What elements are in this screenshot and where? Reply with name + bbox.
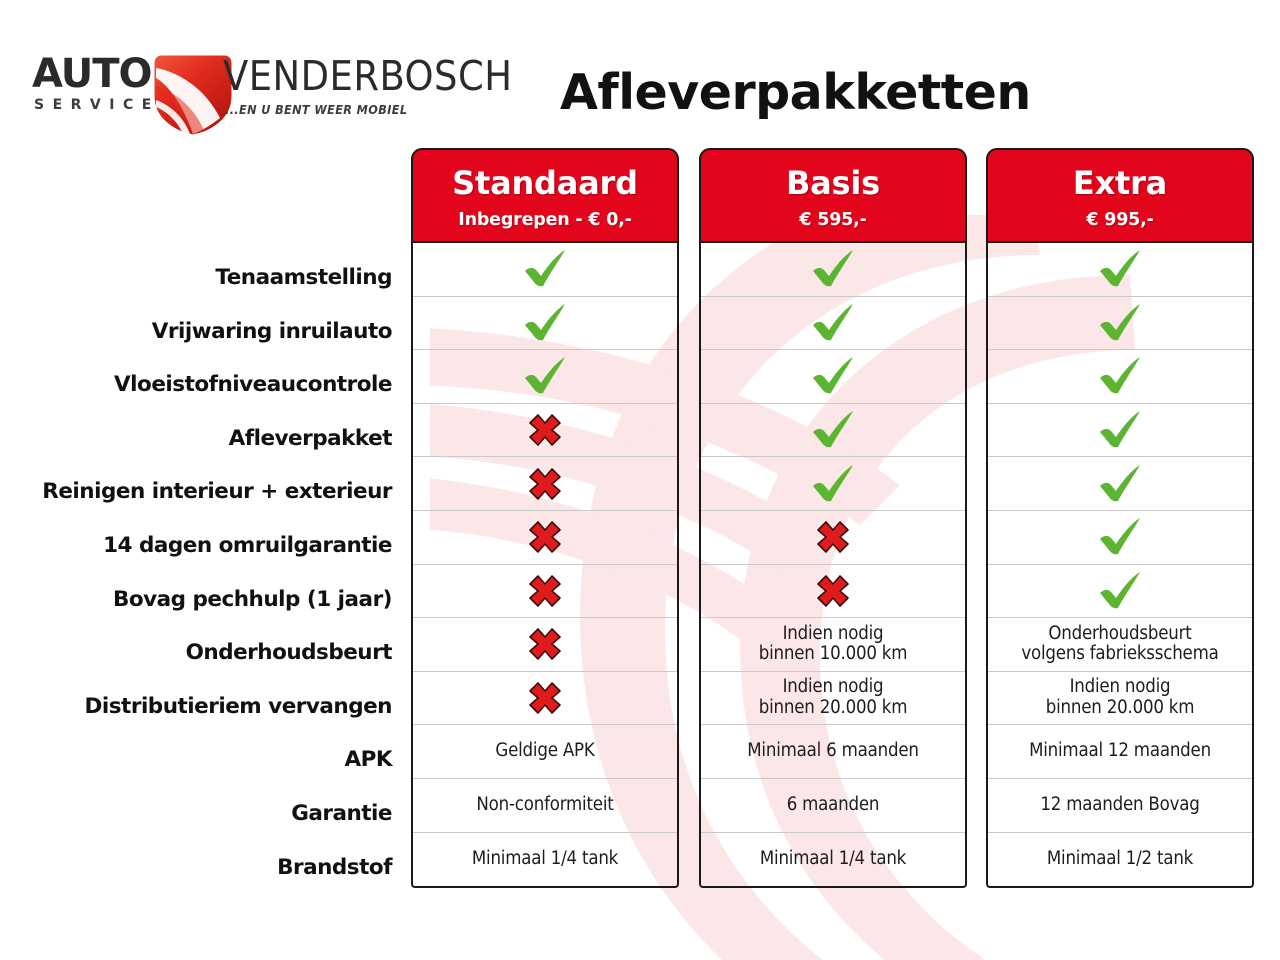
feature-cell: [701, 404, 965, 458]
package-price: € 595,-: [701, 199, 965, 230]
row-label: Bovag pechhulp (1 jaar): [0, 573, 396, 627]
cross-icon: [528, 574, 562, 608]
feature-cell: Minimaal 6 maanden: [701, 725, 965, 779]
check-icon: [810, 464, 856, 504]
feature-cell: [701, 243, 965, 297]
feature-cell: [988, 243, 1252, 297]
package-name: Standaard: [413, 150, 677, 199]
package-header: Extra€ 995,-: [986, 148, 1254, 243]
check-icon: [1097, 517, 1143, 557]
check-icon: [1097, 571, 1143, 611]
feature-cell: Non-conformiteit: [413, 779, 677, 833]
check-icon: [1097, 249, 1143, 289]
feature-cell: Onderhoudsbeurt volgens fabrieksschema: [988, 618, 1252, 672]
feature-cell: [988, 404, 1252, 458]
feature-cell: Minimaal 1/4 tank: [701, 833, 965, 887]
feature-cell: [988, 297, 1252, 351]
feature-cell: [701, 565, 965, 619]
check-icon: [1097, 356, 1143, 396]
feature-cell: [413, 565, 677, 619]
feature-cell-text: Indien nodig binnen 20.000 km: [1042, 677, 1199, 719]
feature-cell-text: Non-conformiteit: [472, 795, 617, 816]
check-icon: [810, 356, 856, 396]
check-icon: [1097, 464, 1143, 504]
package-feature-list: Geldige APKNon-conformiteitMinimaal 1/4 …: [411, 243, 679, 888]
feature-cell: [988, 565, 1252, 619]
feature-cell-text: Minimaal 1/4 tank: [468, 849, 622, 870]
package-feature-list: Onderhoudsbeurt volgens fabrieksschemaIn…: [986, 243, 1254, 888]
logo-service-text: SERVICE: [34, 98, 160, 112]
feature-cell-text: 12 maanden Bovag: [1036, 795, 1203, 816]
feature-cell-text: Indien nodig binnen 10.000 km: [755, 624, 912, 666]
page-title: Afleverpakketten: [560, 58, 1160, 128]
feature-cell: 6 maanden: [701, 779, 965, 833]
feature-cell: Minimaal 1/4 tank: [413, 833, 677, 887]
feature-cell: Indien nodig binnen 20.000 km: [988, 672, 1252, 726]
row-label: Afleverpakket: [0, 412, 396, 466]
comparison-poster: AUTO SERVICE VENDERBOSCH ...EN U BENT WE…: [0, 0, 1280, 960]
feature-cell: [413, 672, 677, 726]
feature-cell: Indien nodig binnen 20.000 km: [701, 672, 965, 726]
check-icon: [522, 249, 568, 289]
row-label: Brandstof: [0, 841, 396, 895]
check-icon: [810, 249, 856, 289]
package-price: Inbegrepen - € 0,-: [413, 199, 677, 230]
package-column-standaard[interactable]: StandaardInbegrepen - € 0,-Geldige APKNo…: [411, 148, 679, 888]
row-label-column: TenaamstellingVrijwaring inruilautoVloei…: [0, 251, 396, 894]
row-label: 14 dagen omruilgarantie: [0, 519, 396, 573]
feature-cell: Geldige APK: [413, 725, 677, 779]
row-label: APK: [0, 733, 396, 787]
cross-icon: [528, 413, 562, 447]
cross-icon: [528, 520, 562, 554]
cross-icon: [528, 467, 562, 501]
package-header: StandaardInbegrepen - € 0,-: [411, 148, 679, 243]
feature-cell: [701, 457, 965, 511]
package-name: Extra: [988, 150, 1252, 199]
logo-auto-text: AUTO: [32, 54, 152, 94]
feature-cell-text: Minimaal 1/4 tank: [756, 849, 910, 870]
package-price: € 995,-: [988, 199, 1252, 230]
feature-cell: 12 maanden Bovag: [988, 779, 1252, 833]
row-label: Reinigen interieur + exterieur: [0, 465, 396, 519]
feature-cell-text: Indien nodig binnen 20.000 km: [755, 677, 912, 719]
feature-cell: Minimaal 1/2 tank: [988, 833, 1252, 887]
feature-cell-text: Minimaal 1/2 tank: [1043, 849, 1197, 870]
feature-cell: [413, 243, 677, 297]
package-header: Basis€ 595,-: [699, 148, 967, 243]
logo-venderbosch-text: VENDERBOSCH: [223, 56, 513, 97]
check-icon: [810, 303, 856, 343]
feature-cell: [988, 511, 1252, 565]
feature-cell: [701, 297, 965, 351]
row-label: Distributieriem vervangen: [0, 680, 396, 734]
row-label: Vrijwaring inruilauto: [0, 305, 396, 359]
feature-cell: [413, 404, 677, 458]
row-label: Vloeistofniveaucontrole: [0, 358, 396, 412]
feature-cell: [701, 350, 965, 404]
feature-cell: [413, 297, 677, 351]
package-column-extra[interactable]: Extra€ 995,-Onderhoudsbeurt volgens fabr…: [986, 148, 1254, 888]
feature-cell: [413, 511, 677, 565]
row-label: Garantie: [0, 787, 396, 841]
cross-icon: [816, 520, 850, 554]
cross-icon: [528, 681, 562, 715]
check-icon: [1097, 303, 1143, 343]
package-feature-list: Indien nodig binnen 10.000 kmIndien nodi…: [699, 243, 967, 888]
feature-cell: [988, 457, 1252, 511]
feature-cell: Indien nodig binnen 10.000 km: [701, 618, 965, 672]
feature-cell: [413, 618, 677, 672]
feature-cell-text: Geldige APK: [491, 741, 598, 762]
feature-cell: [988, 350, 1252, 404]
feature-cell-text: Minimaal 6 maanden: [743, 741, 922, 762]
row-label: Onderhoudsbeurt: [0, 626, 396, 680]
check-icon: [522, 303, 568, 343]
check-icon: [1097, 410, 1143, 450]
row-label: Tenaamstelling: [0, 251, 396, 305]
company-logo: AUTO SERVICE VENDERBOSCH ...EN U BENT WE…: [18, 46, 498, 138]
feature-cell: [413, 350, 677, 404]
check-icon: [522, 356, 568, 396]
package-name: Basis: [701, 150, 965, 199]
cross-icon: [816, 574, 850, 608]
feature-cell: [701, 511, 965, 565]
feature-cell: Minimaal 12 maanden: [988, 725, 1252, 779]
feature-cell-text: Onderhoudsbeurt volgens fabrieksschema: [1017, 624, 1222, 666]
feature-cell-text: Minimaal 12 maanden: [1025, 741, 1215, 762]
feature-cell-text: 6 maanden: [783, 795, 884, 816]
feature-cell: [413, 457, 677, 511]
cross-icon: [528, 627, 562, 661]
package-column-basis[interactable]: Basis€ 595,-Indien nodig binnen 10.000 k…: [699, 148, 967, 888]
check-icon: [810, 410, 856, 450]
logo-tagline-text: ...EN U BENT WEER MOBIEL: [225, 104, 407, 117]
